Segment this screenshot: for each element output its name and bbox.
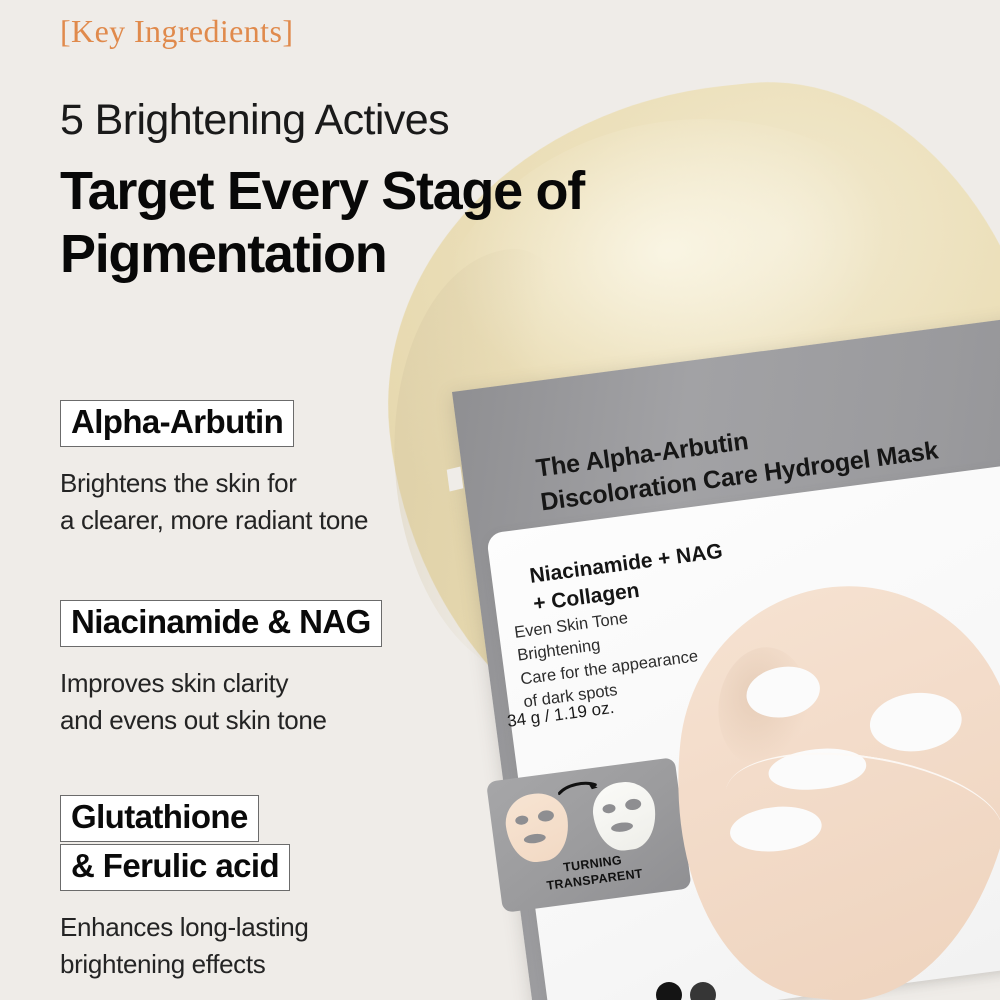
ingredient-description-alpha-arbutin: Brightens the skin for a clearer, more r… [60, 465, 368, 539]
page-title: Target Every Stage of Pigmentation [60, 160, 720, 286]
ingredient-title-glutathione: Glutathione [60, 795, 259, 842]
subheading: 5 Brightening Actives [60, 96, 449, 145]
ingredient-block-glutathione-ferulic: Glutathione & Ferulic acid Enhances long… [60, 795, 309, 983]
ingredient-description-niacinamide-nag: Improves skin clarity and evens out skin… [60, 665, 382, 739]
ingredient-title-ferulic-acid: & Ferulic acid [60, 844, 290, 891]
ingredient-title-niacinamide-nag: Niacinamide & NAG [60, 600, 382, 647]
eyebrow-label: [Key Ingredients] [60, 13, 293, 50]
ingredient-block-niacinamide-nag: Niacinamide & NAG Improves skin clarity … [60, 600, 382, 739]
marketing-copy: [Key Ingredients] 5 Brightening Actives … [0, 0, 1000, 1000]
ingredient-title-alpha-arbutin: Alpha-Arbutin [60, 400, 294, 447]
page-title-line-2: Pigmentation [60, 223, 720, 286]
ingredient-description-glutathione-ferulic: Enhances long-lasting brightening effect… [60, 909, 309, 983]
page-title-line-1: Target Every Stage of [60, 160, 720, 223]
ingredient-block-alpha-arbutin: Alpha-Arbutin Brightens the skin for a c… [60, 400, 368, 539]
